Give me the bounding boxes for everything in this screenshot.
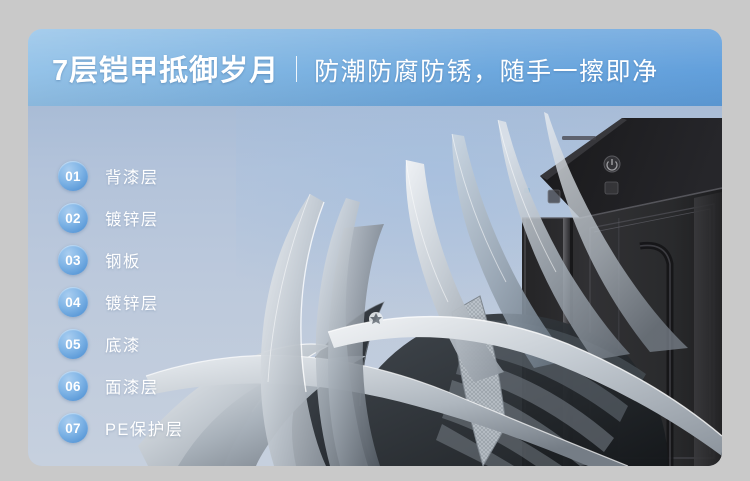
layer-list: 01 背漆层 02 镀锌层 03 钢板 04 镀锌层 05 底漆 06 面 bbox=[58, 158, 268, 452]
layer-number-badge: 01 bbox=[58, 161, 88, 191]
layer-label: 镀锌层 bbox=[105, 206, 159, 230]
layer-number-badge: 03 bbox=[58, 245, 88, 275]
layer-label: 底漆 bbox=[105, 332, 141, 356]
list-item[interactable]: 07 PE保护层 bbox=[58, 410, 268, 446]
hub-logo bbox=[369, 312, 383, 326]
list-item[interactable]: 05 底漆 bbox=[58, 326, 268, 362]
list-item[interactable]: 04 镀锌层 bbox=[58, 284, 268, 320]
list-item[interactable]: 03 钢板 bbox=[58, 242, 268, 278]
headline-subtitle: 防潮防腐防锈，随手一擦即净 bbox=[314, 52, 659, 88]
header-text-group: 7层铠甲抵御岁月 防潮防腐防锈，随手一擦即净 bbox=[52, 47, 659, 89]
layer-number-badge: 07 bbox=[58, 413, 88, 443]
layer-number-badge: 05 bbox=[58, 329, 88, 359]
title-divider bbox=[296, 56, 297, 82]
layer-label: 背漆层 bbox=[105, 164, 159, 188]
product-feature-card: 7层铠甲抵御岁月 防潮防腐防锈，随手一擦即净 bbox=[28, 29, 722, 466]
list-item[interactable]: 02 镀锌层 bbox=[58, 200, 268, 236]
layer-number-badge: 06 bbox=[58, 371, 88, 401]
layer-label: 钢板 bbox=[105, 248, 141, 272]
header-banner: 7层铠甲抵御岁月 防潮防腐防锈，随手一擦即净 bbox=[28, 29, 722, 106]
layer-number-badge: 02 bbox=[58, 203, 88, 233]
layer-label: 镀锌层 bbox=[105, 290, 159, 314]
list-item[interactable]: 06 面漆层 bbox=[58, 368, 268, 404]
layer-label: 面漆层 bbox=[105, 374, 159, 398]
list-item[interactable]: 01 背漆层 bbox=[58, 158, 268, 194]
layer-label: PE保护层 bbox=[105, 416, 184, 440]
layer-number-badge: 04 bbox=[58, 287, 88, 317]
headline-title: 7层铠甲抵御岁月 bbox=[52, 47, 279, 89]
feature-body: 01 背漆层 02 镀锌层 03 钢板 04 镀锌层 05 底漆 06 面 bbox=[28, 106, 722, 466]
